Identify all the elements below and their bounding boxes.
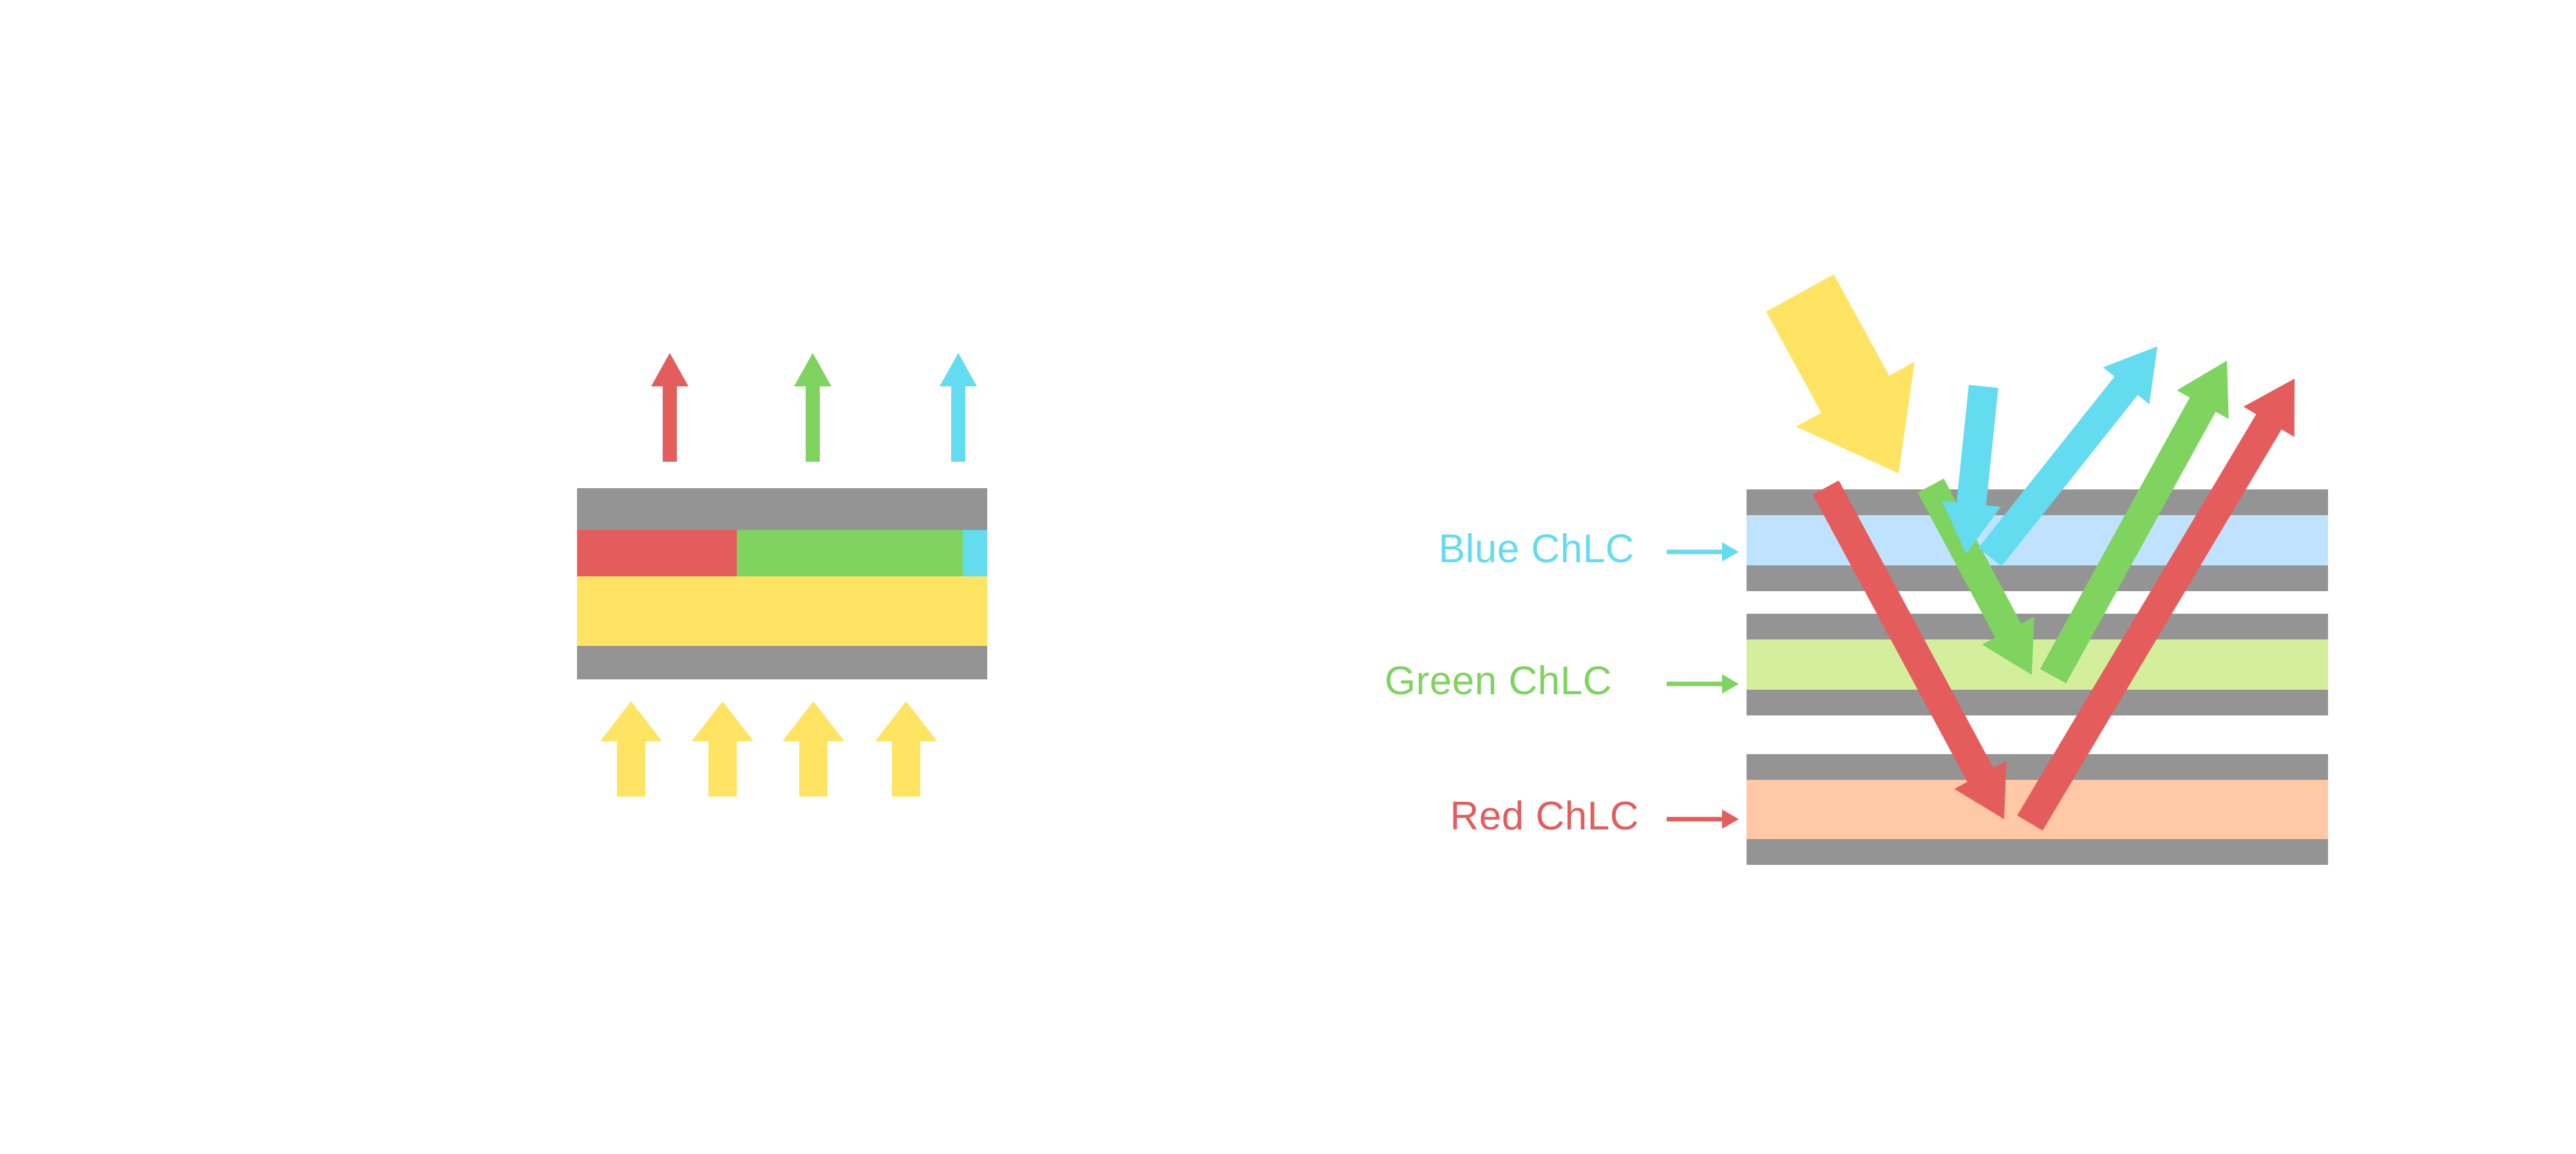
green-chlc-layer	[1747, 639, 2328, 690]
label-green-chlc: Green ChLC	[1385, 658, 1612, 704]
label-blue-chlc-arrow	[1667, 542, 1739, 562]
red-top-gray	[1747, 754, 2328, 780]
label-red-chlc: Red ChLC	[1450, 793, 1639, 839]
green-bottom-gray	[1747, 690, 2328, 715]
blue-bottom-gray	[1747, 565, 2328, 591]
incident-white-light-arrow	[1766, 274, 1915, 473]
label-blue-chlc: Blue ChLC	[1439, 526, 1634, 572]
label-green-chlc-arrow	[1667, 674, 1739, 694]
label-red-chlc-arrow	[1667, 809, 1739, 829]
red-bottom-gray	[1747, 839, 2328, 865]
right-panel-graphics	[0, 0, 2576, 1154]
diagram-canvas: Blue ChLC Green ChLC Red ChLC	[0, 0, 2576, 1154]
green-top-gray	[1747, 614, 2328, 639]
